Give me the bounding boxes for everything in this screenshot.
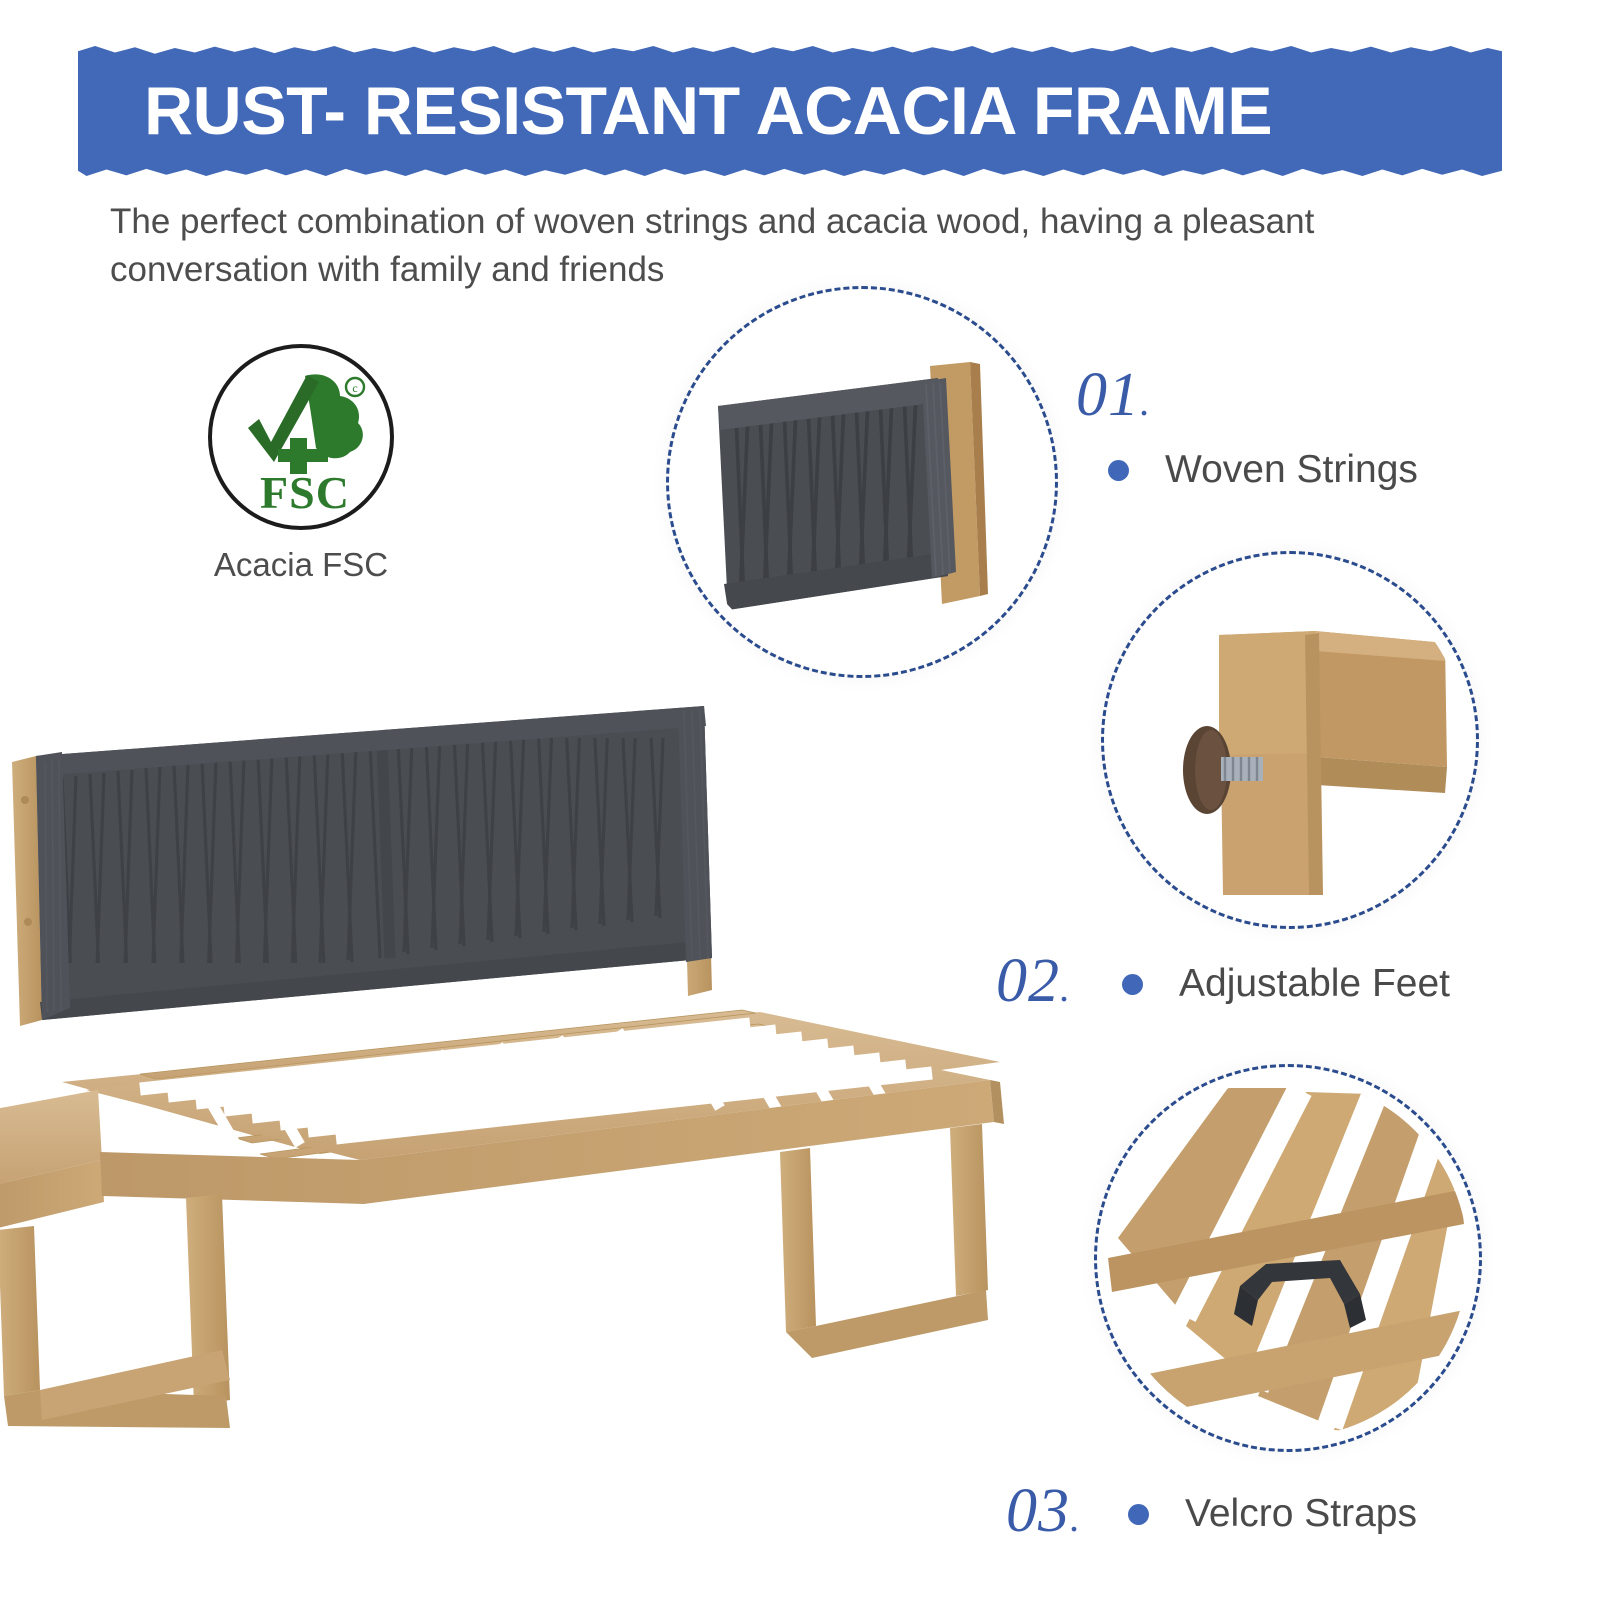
fsc-logo-circle: FSC c	[208, 344, 394, 530]
fsc-tree-checkmark-icon: FSC c	[212, 348, 398, 534]
bullet-icon-01	[1108, 460, 1129, 481]
subtitle-text: The perfect combination of woven strings…	[110, 198, 1470, 295]
detail-circle-velcro-straps	[1108, 1078, 1468, 1438]
header-banner: RUST- RESISTANT ACACIA FRAME	[78, 46, 1502, 176]
bullet-icon-02	[1122, 974, 1143, 995]
product-feature-page: RUST- RESISTANT ACACIA FRAME The perfect…	[0, 0, 1600, 1600]
svg-text:FSC: FSC	[260, 467, 350, 518]
page-title: RUST- RESISTANT ACACIA FRAME	[78, 72, 1272, 150]
callout-label-row-03: Velcro Straps	[1128, 1492, 1417, 1536]
callout-number-01: 01.	[1076, 360, 1151, 431]
acacia-bench-illustration	[0, 690, 1050, 1430]
callout-label-row-02: Adjustable Feet	[1122, 962, 1450, 1006]
bullet-icon-03	[1128, 1504, 1149, 1525]
callout-label-row-01: Woven Strings	[1108, 448, 1418, 492]
velcro-strap-closeup-icon	[1108, 1078, 1468, 1438]
woven-rope-closeup-icon	[680, 300, 1044, 664]
detail-circle-adjustable-feet	[1115, 565, 1465, 915]
svg-text:c: c	[352, 381, 357, 395]
callout-label-01: Woven Strings	[1165, 448, 1418, 492]
callout-label-02: Adjustable Feet	[1179, 962, 1450, 1006]
fsc-label: Acacia FSC	[196, 546, 406, 584]
fsc-certification-badge: FSC c Acacia FSC	[196, 344, 406, 584]
callout-number-03: 03.	[1006, 1476, 1081, 1547]
callout-label-03: Velcro Straps	[1185, 1492, 1417, 1536]
detail-circle-woven-strings	[680, 300, 1044, 664]
callout-number-02: 02.	[996, 946, 1071, 1017]
adjustable-foot-closeup-icon	[1115, 565, 1465, 915]
product-main-image	[0, 690, 1050, 1430]
